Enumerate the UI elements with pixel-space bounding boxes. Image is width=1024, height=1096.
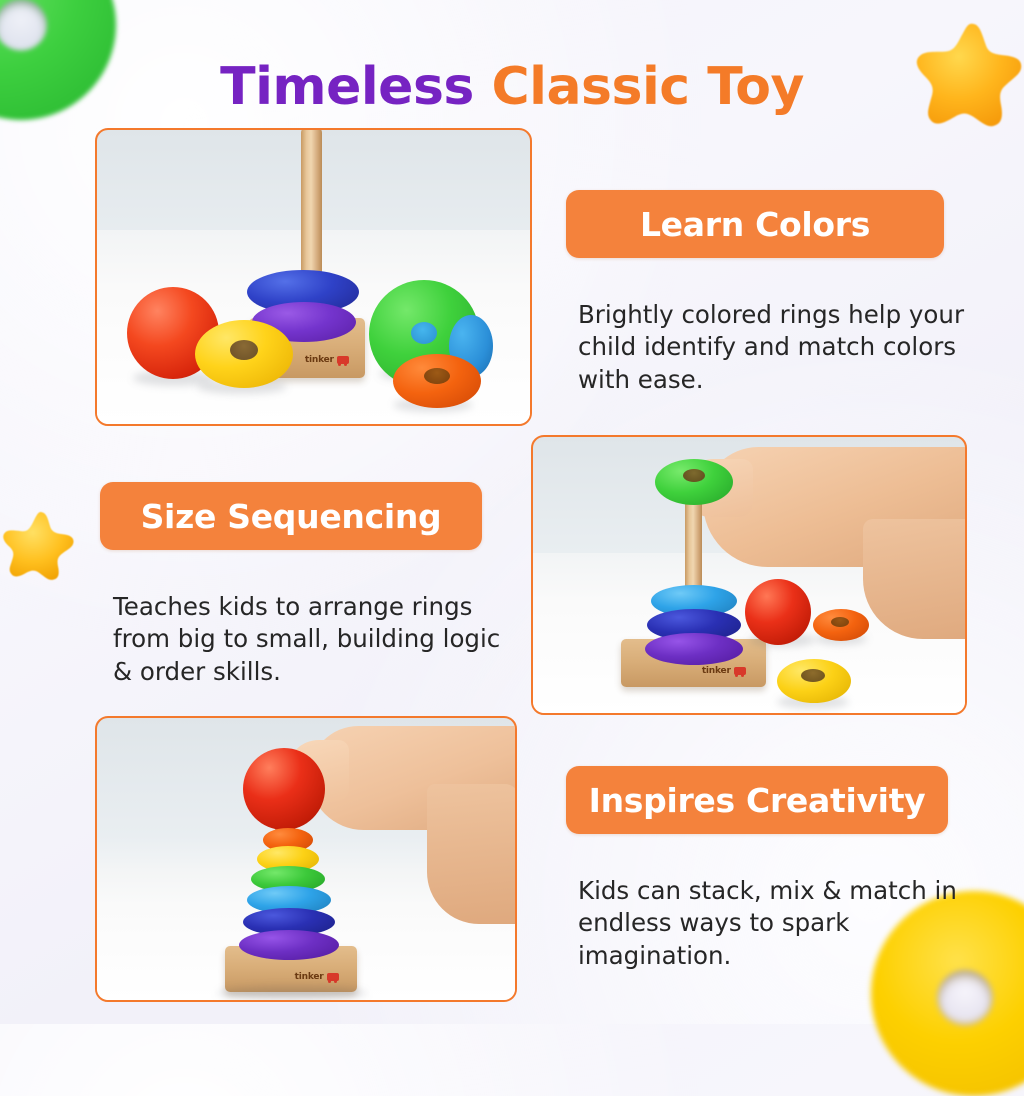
brand-name: tinker — [295, 972, 324, 982]
feature-badge-label: Size Sequencing — [141, 497, 442, 536]
product-photo-learn-colors: tinker — [95, 128, 532, 426]
product-photo-inspires-creativity: tinker — [95, 716, 517, 1002]
feature-badge-size-sequencing[interactable]: Size Sequencing — [100, 482, 482, 550]
feature-badge-label: Inspires Creativity — [589, 781, 926, 820]
brand-name: tinker — [702, 666, 731, 676]
toy-truck-icon — [337, 356, 349, 364]
toy-truck-icon — [734, 667, 746, 675]
red-ball — [243, 748, 325, 830]
feature-body-inspires-creativity: Kids can stack, mix & match in endless w… — [578, 875, 968, 973]
feature-body-size-sequencing: Teaches kids to arrange rings from big t… — [113, 591, 508, 689]
feature-badge-label: Learn Colors — [640, 205, 870, 244]
page-title-part1: Timeless — [220, 57, 474, 117]
feature-body-learn-colors: Brightly colored rings help your child i… — [578, 299, 973, 397]
feature-badge-learn-colors[interactable]: Learn Colors — [566, 190, 944, 258]
feature-badge-inspires-creativity[interactable]: Inspires Creativity — [566, 766, 948, 834]
purple-ring — [645, 633, 743, 665]
toy-truck-icon — [327, 973, 339, 981]
purple-ring — [239, 930, 339, 960]
green-ring-held — [655, 459, 733, 505]
brand-logo: tinker — [305, 355, 349, 365]
brand-logo: tinker — [295, 972, 339, 982]
brand-logo: tinker — [702, 666, 746, 676]
page-title-part2: Classic Toy — [491, 57, 803, 117]
brand-name: tinker — [305, 355, 334, 365]
red-ball — [745, 579, 811, 645]
product-photo-size-sequencing: tinker — [531, 435, 967, 715]
yellow-star-small-icon — [2, 506, 78, 582]
page-title: Timeless Classic Toy — [0, 61, 1024, 113]
